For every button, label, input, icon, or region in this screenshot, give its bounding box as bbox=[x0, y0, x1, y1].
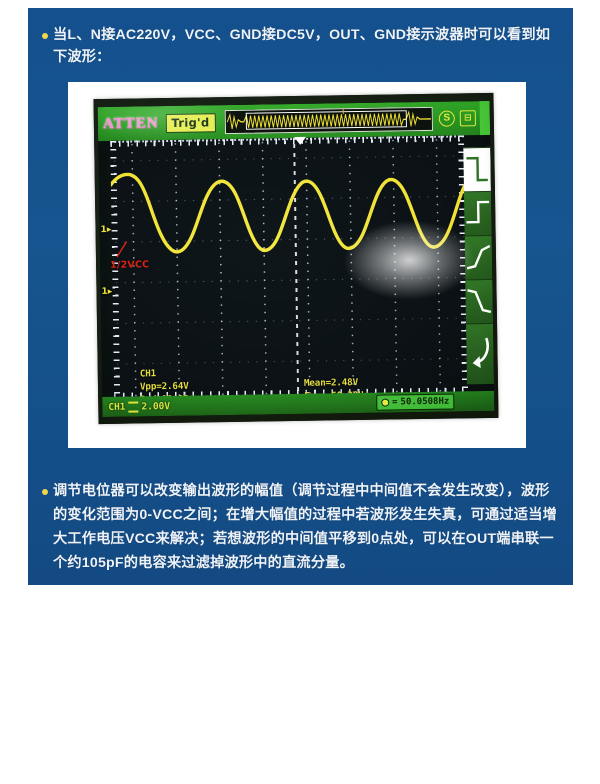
counter-value: 50.0508Hz bbox=[400, 397, 449, 408]
slope-up-icon bbox=[465, 236, 493, 280]
trigger-position-pointer bbox=[294, 137, 306, 145]
softkey-slope-up[interactable] bbox=[465, 235, 493, 280]
bullet-paragraph-top: 当L、N接AC220V，VCC、GND接DC5V，OUT、GND接示波器时可以看… bbox=[42, 24, 552, 68]
back-arrow-icon bbox=[466, 324, 494, 384]
article-panel: 当L、N接AC220V，VCC、GND接DC5V，OUT、GND接示波器时可以看… bbox=[28, 8, 573, 585]
softkey-edge-rising[interactable] bbox=[463, 147, 491, 192]
edge-rising-icon bbox=[463, 148, 491, 192]
counter-equals: = bbox=[392, 397, 398, 407]
oscilloscope-photo: ATTEN Trig'd S ⊟ bbox=[93, 93, 498, 424]
brand-logo: ATTEN bbox=[103, 115, 159, 133]
channel-scale-readout: CH1 2.00V bbox=[108, 400, 170, 412]
lock-square-icon: ⊟ bbox=[460, 110, 476, 126]
edge-step-icon bbox=[464, 192, 492, 236]
frequency-counter: = 50.0508Hz bbox=[376, 394, 454, 411]
bullet-dot-icon-2 bbox=[42, 489, 48, 495]
photo-frame: ATTEN Trig'd S ⊟ bbox=[68, 82, 526, 448]
bullet-paragraph-bottom: 调节电位器可以改变输出波形的幅值（调节过程中中间值不会发生改变），波形的变化范围… bbox=[42, 480, 558, 575]
half-vcc-label: 1/2VCC bbox=[110, 259, 149, 271]
softkey-edge-step[interactable] bbox=[464, 191, 492, 236]
channel-scale-label: CH1 bbox=[108, 401, 125, 412]
softkey-back[interactable] bbox=[466, 323, 494, 384]
overview-window bbox=[246, 110, 407, 130]
volts-per-div-value: 2.00V bbox=[141, 400, 170, 411]
channel-1-marker-bottom: 1▸ bbox=[101, 287, 112, 297]
page-root: 当L、N接AC220V，VCC、GND接DC5V，OUT、GND接示波器时可以看… bbox=[0, 0, 600, 784]
bullet-text-bottom: 调节电位器可以改变输出波形的幅值（调节过程中中间值不会发生改变），波形的变化范围… bbox=[53, 480, 558, 575]
bullet-text-top: 当L、N接AC220V，VCC、GND接DC5V，OUT、GND接示波器时可以看… bbox=[53, 24, 552, 68]
band-tail bbox=[480, 101, 491, 135]
meas-mean: Mean=2.48V bbox=[304, 377, 358, 389]
waveform-overview-bar bbox=[224, 107, 433, 134]
meas-vpp: Vpp=2.64V bbox=[140, 381, 189, 393]
channel-1-marker-top: 1▸ bbox=[100, 225, 111, 235]
measurement-block-left: CH1 Vpp=2.64V Prd=19.92ms bbox=[140, 368, 200, 399]
bullet-dot-icon bbox=[42, 33, 48, 39]
annotation-pointer-icon bbox=[115, 241, 128, 259]
half-vcc-annotation: 1/2VCC bbox=[110, 254, 149, 273]
scope-screen: ATTEN Trig'd S ⊟ bbox=[98, 101, 495, 417]
trigger-status-badge: Trig'd bbox=[165, 113, 215, 133]
softkey-slope-down[interactable] bbox=[465, 279, 493, 324]
dc-coupling-icon bbox=[128, 401, 138, 412]
graticule: CH1 Vpp=2.64V Prd=19.92ms Mean=2.48V Fre… bbox=[110, 135, 468, 399]
s-circle-icon: S bbox=[439, 110, 455, 126]
band-icon-group: S ⊟ bbox=[439, 110, 476, 127]
overview-trigger-marker bbox=[343, 108, 344, 114]
waveform-trace bbox=[110, 135, 468, 399]
counter-dot-icon bbox=[381, 399, 389, 407]
softkey-menu bbox=[463, 133, 494, 411]
slope-down-icon bbox=[465, 280, 493, 324]
meas-ch1-label: CH1 bbox=[140, 368, 156, 379]
